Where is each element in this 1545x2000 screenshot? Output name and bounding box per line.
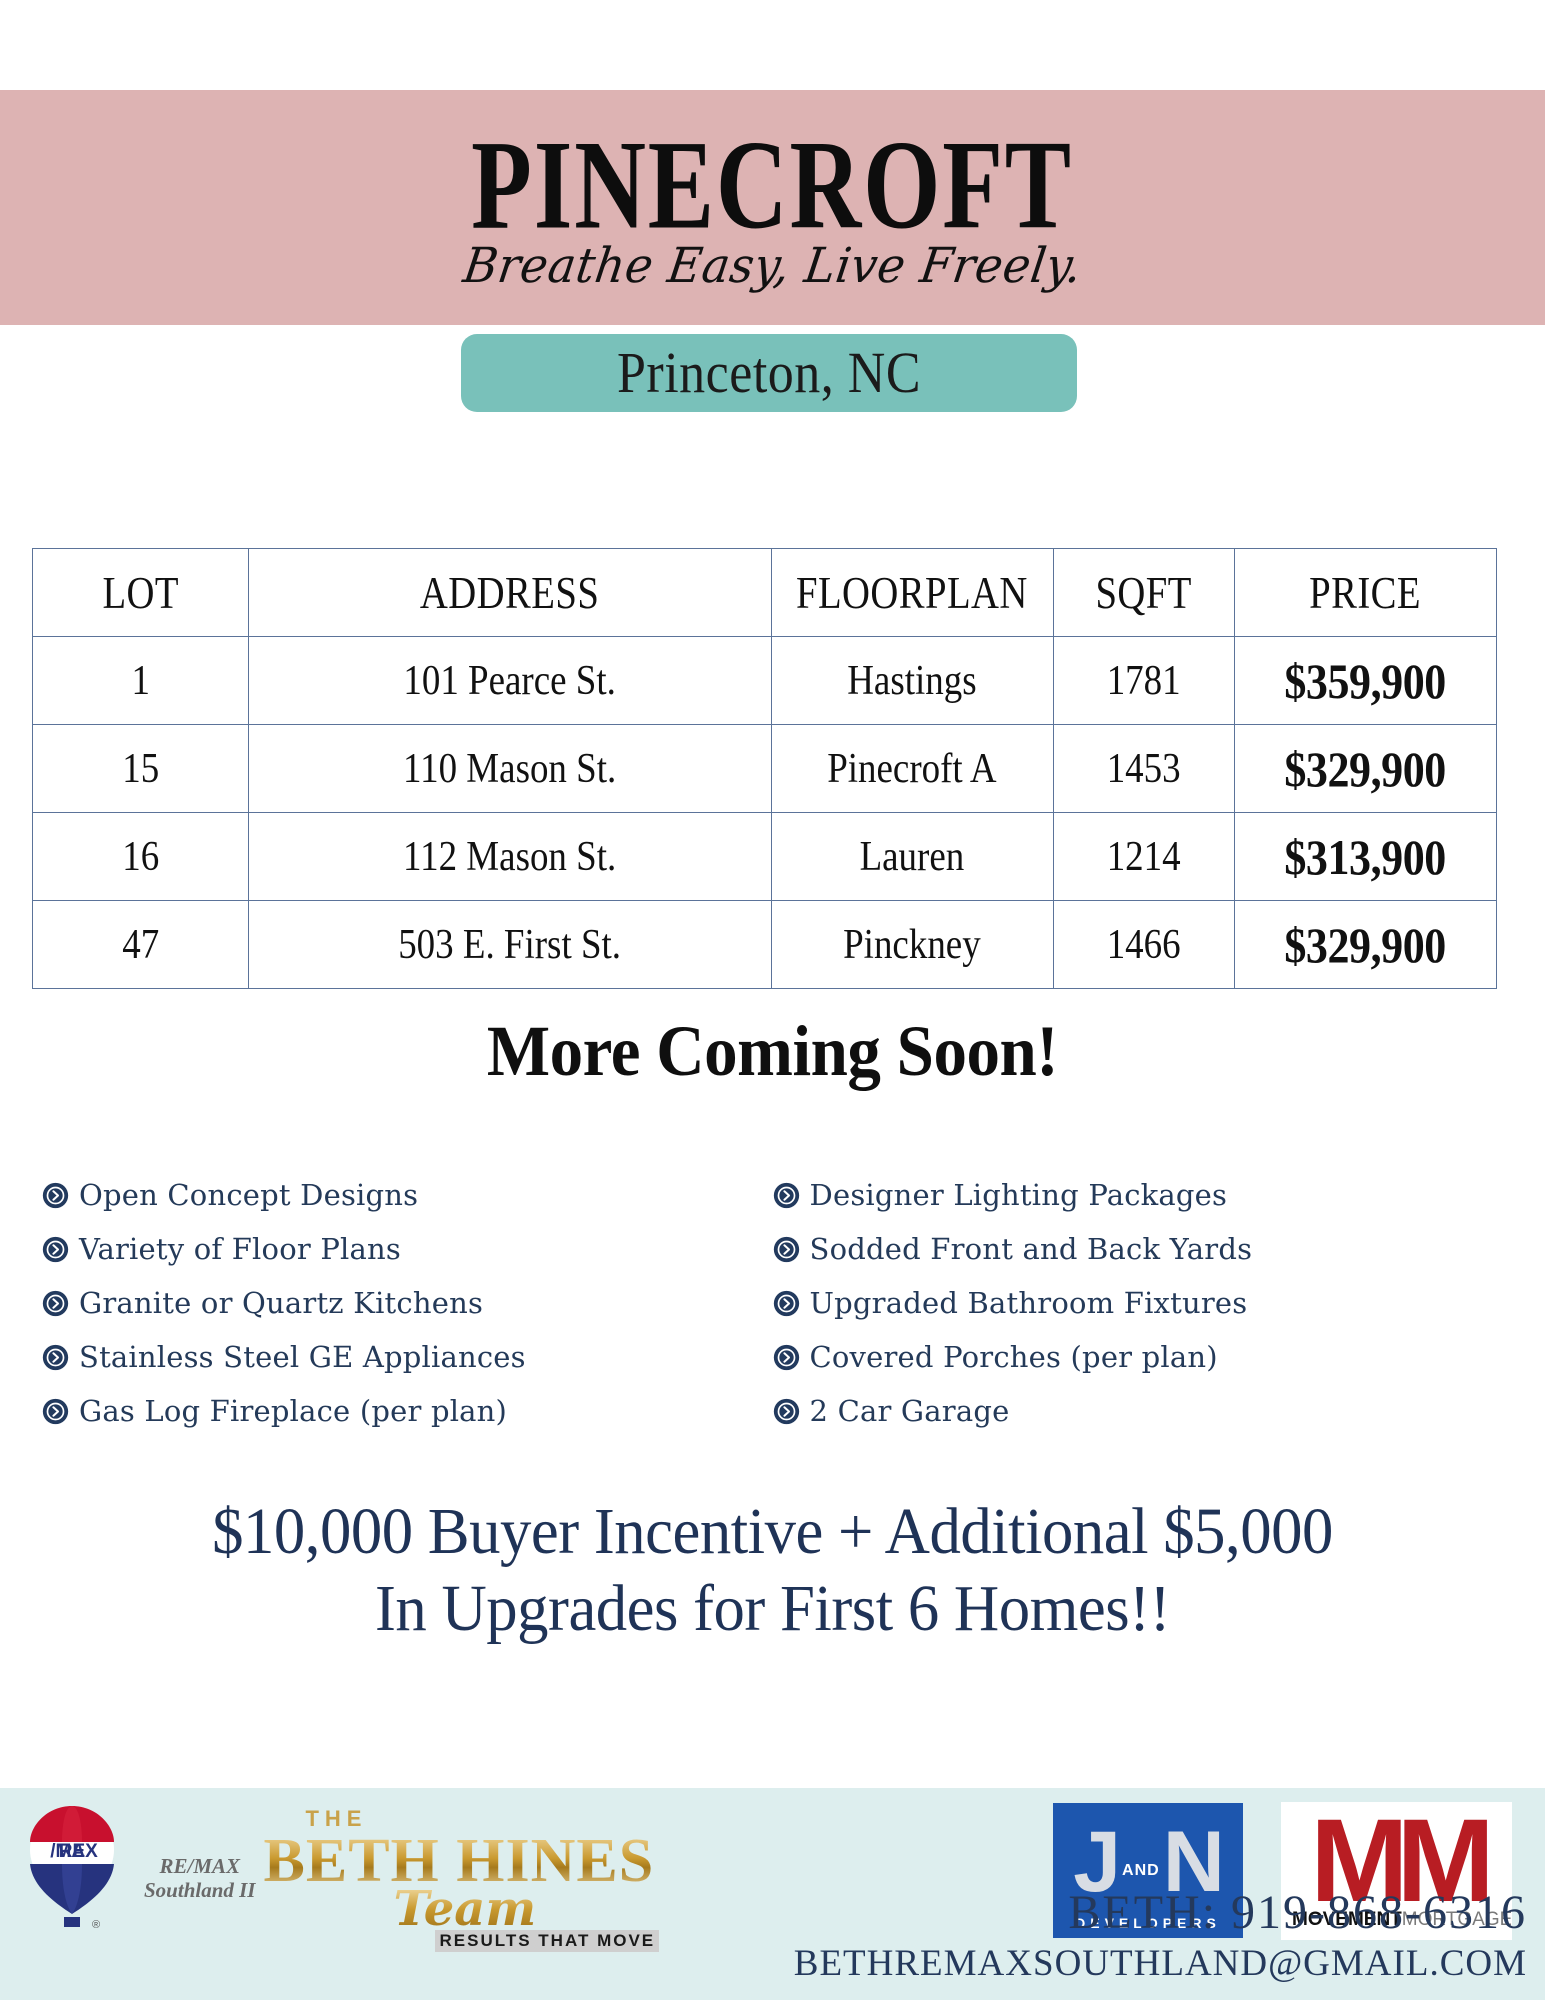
features-section: Open Concept Designs Variety of Floor Pl… xyxy=(0,1168,1545,1438)
contact-phone[interactable]: BETH: 919-868-6316 xyxy=(794,1884,1527,1943)
table-header-row: LOT ADDRESS FLOORPLAN SQFT PRICE xyxy=(33,549,1497,637)
cell-price: $329,900 xyxy=(1250,901,1481,989)
features-column-right: Designer Lighting Packages Sodded Front … xyxy=(0,1168,773,1438)
cell-sqft: 1453 xyxy=(1064,725,1224,813)
remax-office-line1: RE/MAX xyxy=(144,1854,255,1878)
listings-table: LOT ADDRESS FLOORPLAN SQFT PRICE 1 101 P… xyxy=(32,548,1497,989)
svg-text:/MAX: /MAX xyxy=(50,1841,98,1862)
cell-lot: 1 xyxy=(45,637,235,725)
table-row: 1 101 Pearce St. Hastings 1781 $359,900 xyxy=(33,637,1497,725)
cell-sqft: 1781 xyxy=(1064,637,1224,725)
column-header-lot: LOT xyxy=(48,549,233,637)
cell-floorplan: Hastings xyxy=(788,637,1036,725)
cell-lot: 16 xyxy=(45,813,235,901)
cell-address: 110 Mason St. xyxy=(279,725,739,813)
cell-sqft: 1214 xyxy=(1064,813,1224,901)
feature-label: Sodded Front and Back Yards xyxy=(810,1232,1253,1266)
remax-office-name: RE/MAX Southland II xyxy=(144,1854,255,1902)
feature-label: Covered Porches (per plan) xyxy=(810,1340,1218,1374)
beth-hines-team-logo: THE BETH HINES Team RESULTS THAT MOVE xyxy=(263,1802,659,1952)
community-tagline: Breathe Easy, Live Freely. xyxy=(460,240,1085,288)
remax-balloon-wrap: RE /MAX ® xyxy=(18,1802,126,1934)
column-header-sqft: SQFT xyxy=(1066,549,1222,637)
location-badge: Princeton, NC xyxy=(461,334,1077,412)
table-row: 47 503 E. First St. Pinckney 1466 $329,9… xyxy=(33,901,1497,989)
svg-text:®: ® xyxy=(92,1919,100,1931)
incentive-line-2: In Upgrades for First 6 Homes!! xyxy=(39,1570,1507,1647)
remax-logo-group: RE /MAX ® RE/MAX Southland II THE BETH H… xyxy=(18,1802,659,1952)
cell-price: $359,900 xyxy=(1250,637,1481,725)
cell-sqft: 1466 xyxy=(1064,901,1224,989)
incentive-block: $10,000 Buyer Incentive + Additional $5,… xyxy=(0,1493,1545,1647)
incentive-line-1: $10,000 Buyer Incentive + Additional $5,… xyxy=(39,1493,1507,1570)
cell-address: 112 Mason St. xyxy=(279,813,739,901)
chevron-right-circle-icon xyxy=(773,1344,800,1371)
chevron-right-circle-icon xyxy=(773,1182,800,1209)
header-banner: PINECROFT Breathe Easy, Live Freely. xyxy=(0,90,1545,325)
feature-label: Upgraded Bathroom Fixtures xyxy=(810,1286,1248,1320)
cell-floorplan: Pinecroft A xyxy=(788,725,1036,813)
column-header-floorplan: FLOORPLAN xyxy=(791,549,1033,637)
cell-lot: 47 xyxy=(45,901,235,989)
column-header-price: PRICE xyxy=(1253,549,1478,637)
cell-floorplan: Lauren xyxy=(788,813,1036,901)
cell-floorplan: Pinckney xyxy=(788,901,1036,989)
jn-and-label: AND xyxy=(1122,1862,1160,1880)
cell-price: $329,900 xyxy=(1250,725,1481,813)
chevron-right-circle-icon xyxy=(773,1398,800,1425)
feature-label: 2 Car Garage xyxy=(810,1394,1010,1428)
cell-address: 101 Pearce St. xyxy=(279,637,739,725)
cell-address: 503 E. First St. xyxy=(279,901,739,989)
feature-label: Designer Lighting Packages xyxy=(810,1178,1228,1212)
column-header-address: ADDRESS xyxy=(285,549,735,637)
chevron-right-circle-icon xyxy=(773,1290,800,1317)
footer-bar: RE /MAX ® RE/MAX Southland II THE BETH H… xyxy=(0,1788,1545,2000)
table-row: 16 112 Mason St. Lauren 1214 $313,900 xyxy=(33,813,1497,901)
chevron-right-circle-icon xyxy=(773,1236,800,1263)
coming-soon-heading: More Coming Soon! xyxy=(54,1010,1491,1093)
contact-email[interactable]: BETHREMAXSOUTHLAND@GMAIL.COM xyxy=(794,1942,1527,1986)
remax-office-line2: Southland II xyxy=(144,1878,255,1902)
cell-lot: 15 xyxy=(45,725,235,813)
location-label: Princeton, NC xyxy=(617,340,921,406)
beth-team-slogan: RESULTS THAT MOVE xyxy=(435,1930,659,1952)
cell-price: $313,900 xyxy=(1250,813,1481,901)
table-row: 15 110 Mason St. Pinecroft A 1453 $329,9… xyxy=(33,725,1497,813)
remax-balloon-icon: RE /MAX ® xyxy=(22,1802,122,1934)
community-title: PINECROFT xyxy=(472,122,1074,249)
contact-block: BETH: 919-868-6316 BETHREMAXSOUTHLAND@GM… xyxy=(794,1884,1527,1986)
